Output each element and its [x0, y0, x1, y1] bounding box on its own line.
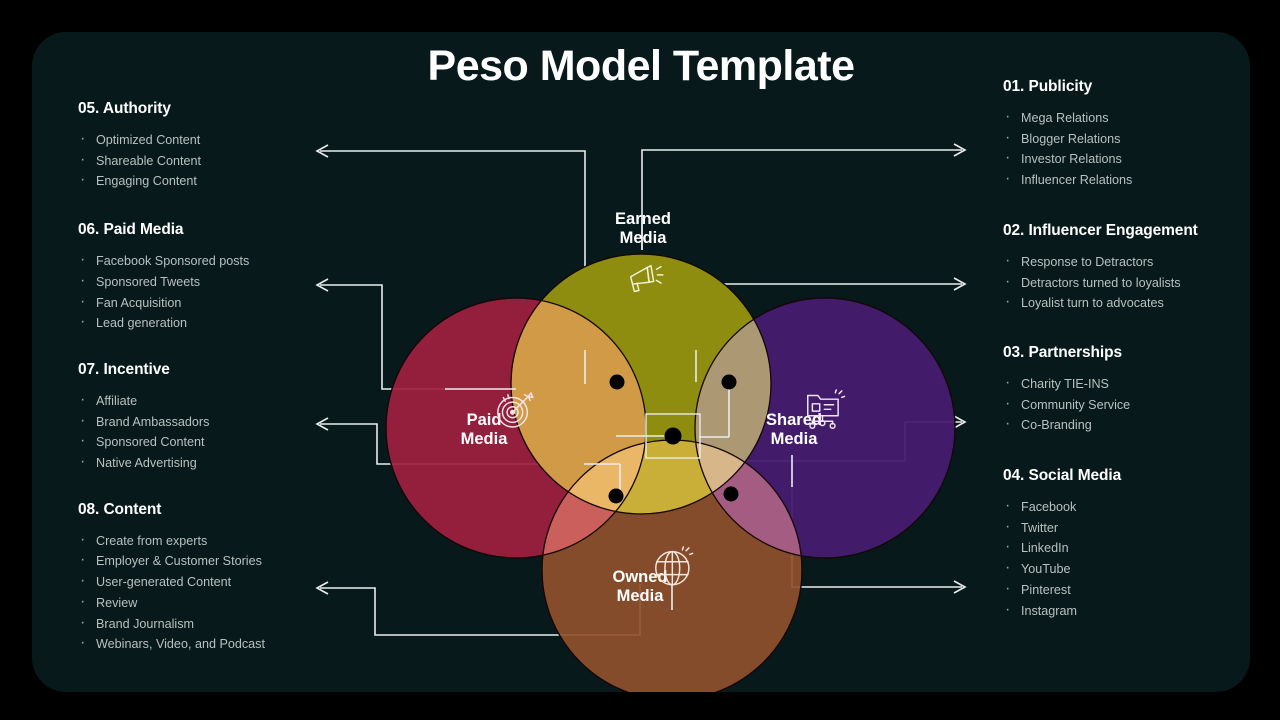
venn-label-paid-line2: Media	[461, 430, 509, 448]
dot-paid-earned	[610, 375, 625, 390]
venn-label-earned-line1: Earned	[615, 210, 671, 228]
venn-circles	[386, 254, 955, 692]
venn-label-owned-line2: Media	[617, 587, 665, 605]
venn-label-paid-line1: Paid	[467, 411, 502, 429]
dot-earned-shared	[722, 375, 737, 390]
slide-panel: Peso Model Template 05. Authority Optimi…	[32, 32, 1250, 692]
dot-paid-owned	[609, 489, 624, 504]
dot-center-all	[665, 428, 682, 445]
connector-earned-to-publicity	[642, 150, 962, 250]
venn-label-owned-line1: Owned	[612, 568, 667, 586]
venn-label-shared-line2: Media	[771, 430, 819, 448]
peso-venn-diagram: Earned Media Paid Media Shared Media Own…	[32, 32, 1250, 692]
dot-shared-owned	[724, 487, 739, 502]
venn-label-earned-line2: Media	[620, 229, 668, 247]
venn-label-shared-line1: Shared	[766, 411, 822, 429]
